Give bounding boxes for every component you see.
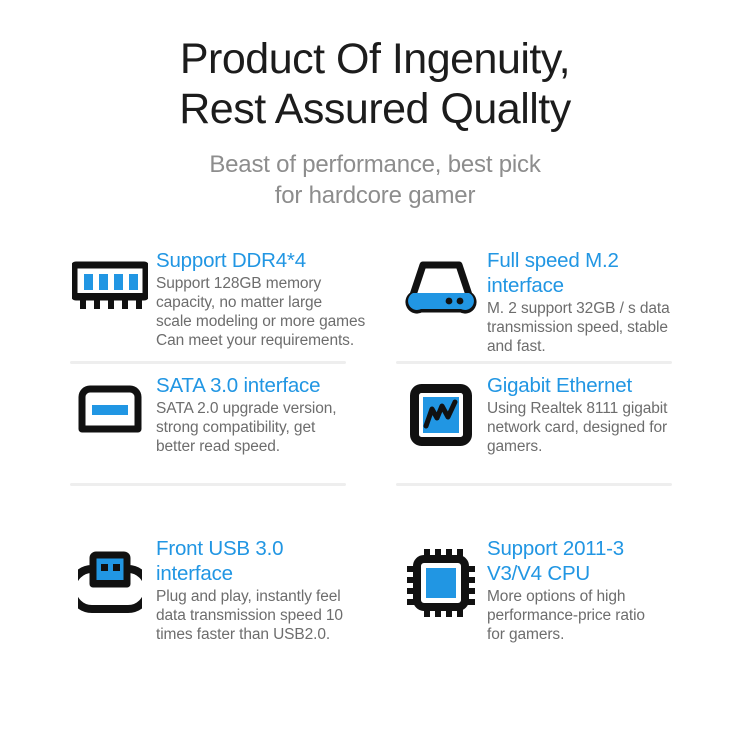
- feature-title: Support 2011-3 V3/V4 CPU: [487, 536, 645, 586]
- feature-text-m2: Full speed M.2 interface M. 2 support 32…: [487, 243, 670, 356]
- page-subtitle-line-1: Beast of performance, best pick: [209, 151, 540, 178]
- feature-description: SATA 2.0 upgrade version, strong compati…: [156, 399, 336, 456]
- section-divider-left: [70, 361, 346, 364]
- feature-card-sata: SATA 3.0 interface SATA 2.0 upgrade vers…: [0, 368, 375, 531]
- feature-card-ethernet: Gigabit Ethernet Using Realtek 8111 giga…: [375, 368, 750, 531]
- sata-port-icon: [64, 368, 156, 448]
- feature-description: More options of high performance-price r…: [487, 587, 645, 644]
- usb-flash-icon: [64, 531, 156, 611]
- feature-card-cpu: Support 2011-3 V3/V4 CPU More options of…: [375, 531, 750, 681]
- page-title-line-2: Rest Assured Quallty: [0, 84, 750, 134]
- ram-icon: [64, 243, 156, 323]
- page-title-line-1: Product Of Ingenuity,: [180, 35, 570, 83]
- feature-description: M. 2 support 32GB / s data transmission …: [487, 299, 670, 356]
- feature-description: Plug and play, instantly feel data trans…: [156, 587, 343, 644]
- cpu-icon: [395, 531, 487, 611]
- section-divider-left: [70, 483, 346, 486]
- page-title: Product Of Ingenuity, Rest Assured Quall…: [0, 34, 750, 134]
- feature-card-ddr4: Support DDR4*4 Support 128GB memory capa…: [0, 243, 375, 368]
- feature-text-ddr4: Support DDR4*4 Support 128GB memory capa…: [156, 243, 365, 350]
- feature-text-usb: Front USB 3.0 interface Plug and play, i…: [156, 531, 343, 644]
- page-subtitle-line-2: for hardcore gamer: [0, 180, 750, 211]
- feature-row-2: SATA 3.0 interface SATA 2.0 upgrade vers…: [0, 368, 750, 531]
- page-subtitle: Beast of performance, best pick for hard…: [0, 149, 750, 211]
- feature-text-sata: SATA 3.0 interface SATA 2.0 upgrade vers…: [156, 368, 336, 456]
- feature-row-3: Front USB 3.0 interface Plug and play, i…: [0, 531, 750, 681]
- feature-description: Support 128GB memory capacity, no matter…: [156, 274, 365, 350]
- feature-card-m2: Full speed M.2 interface M. 2 support 32…: [375, 243, 750, 368]
- feature-title: SATA 3.0 interface: [156, 373, 336, 398]
- feature-title: Gigabit Ethernet: [487, 373, 667, 398]
- feature-text-cpu: Support 2011-3 V3/V4 CPU More options of…: [487, 531, 645, 644]
- feature-title: Full speed M.2 interface: [487, 248, 670, 298]
- feature-grid: Support DDR4*4 Support 128GB memory capa…: [0, 243, 750, 681]
- section-divider-right: [396, 483, 672, 486]
- ethernet-icon: [395, 368, 487, 448]
- section-divider-right: [396, 361, 672, 364]
- feature-title: Front USB 3.0 interface: [156, 536, 343, 586]
- feature-text-ethernet: Gigabit Ethernet Using Realtek 8111 giga…: [487, 368, 667, 456]
- hard-drive-icon: [395, 243, 487, 323]
- product-feature-page: Product Of Ingenuity, Rest Assured Quall…: [0, 0, 750, 750]
- feature-row-1: Support DDR4*4 Support 128GB memory capa…: [0, 243, 750, 368]
- feature-card-usb: Front USB 3.0 interface Plug and play, i…: [0, 531, 375, 681]
- page-header: Product Of Ingenuity, Rest Assured Quall…: [0, 0, 750, 211]
- feature-description: Using Realtek 8111 gigabit network card,…: [487, 399, 667, 456]
- feature-title: Support DDR4*4: [156, 248, 365, 273]
